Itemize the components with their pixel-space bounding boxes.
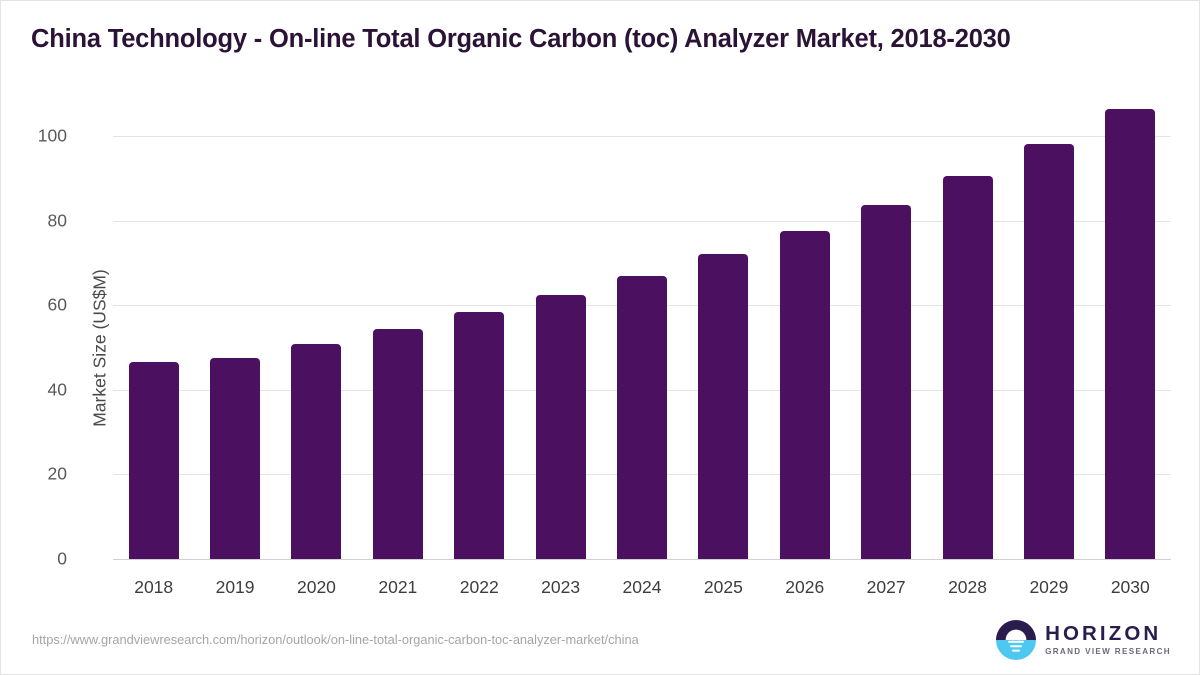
bar-2029[interactable] <box>1024 144 1074 559</box>
y-tick-label: 40 <box>7 379 67 400</box>
bar-2019[interactable] <box>210 358 260 559</box>
plot-area: Market Size (US$M) 020406080100 20182019… <box>113 136 1171 559</box>
bar-2018[interactable] <box>129 362 179 559</box>
x-tick-label: 2021 <box>357 577 438 598</box>
y-tick-label: 0 <box>7 549 67 570</box>
x-tick-label: 2030 <box>1090 577 1171 598</box>
bar-slot <box>520 136 601 559</box>
bar-2020[interactable] <box>291 344 341 559</box>
bar-slot <box>601 136 682 559</box>
y-tick-label: 20 <box>7 464 67 485</box>
bar-slot <box>764 136 845 559</box>
bar-slot <box>357 136 438 559</box>
horizon-logo: HORIZON GRAND VIEW RESEARCH <box>996 618 1171 662</box>
logo-subtitle: GRAND VIEW RESEARCH <box>1045 648 1171 656</box>
bar-2021[interactable] <box>373 329 423 559</box>
bar-slot <box>1090 136 1171 559</box>
x-tick-label: 2023 <box>520 577 601 598</box>
bar-2026[interactable] <box>780 231 830 559</box>
bar-series <box>113 136 1171 559</box>
y-tick-label: 80 <box>7 210 67 231</box>
bar-2024[interactable] <box>617 276 667 559</box>
bar-slot <box>683 136 764 559</box>
x-tick-label: 2018 <box>113 577 194 598</box>
x-tick-label: 2020 <box>276 577 357 598</box>
chart-canvas: Market Size (US$M) 020406080100 20182019… <box>1 1 1200 675</box>
logo-wordmark: HORIZON <box>1045 624 1171 645</box>
horizon-mark-icon <box>996 620 1036 660</box>
x-tick-label: 2024 <box>601 577 682 598</box>
bar-2027[interactable] <box>861 205 911 559</box>
y-tick-label: 100 <box>7 126 67 147</box>
x-tick-label: 2027 <box>845 577 926 598</box>
logo-text: HORIZON GRAND VIEW RESEARCH <box>1045 624 1171 657</box>
bar-2025[interactable] <box>698 254 748 559</box>
x-tick-label: 2029 <box>1008 577 1089 598</box>
bar-2030[interactable] <box>1105 109 1155 559</box>
x-tick-label: 2019 <box>194 577 275 598</box>
bar-slot <box>194 136 275 559</box>
bar-slot <box>439 136 520 559</box>
y-tick-label: 60 <box>7 295 67 316</box>
x-tick-label: 2026 <box>764 577 845 598</box>
bar-slot <box>927 136 1008 559</box>
x-tick-label: 2028 <box>927 577 1008 598</box>
source-url[interactable]: https://www.grandviewresearch.com/horizo… <box>32 632 639 647</box>
bar-slot <box>276 136 357 559</box>
bar-slot <box>1008 136 1089 559</box>
gridline-0 <box>113 559 1171 560</box>
bar-2028[interactable] <box>943 176 993 559</box>
bar-slot <box>845 136 926 559</box>
x-tick-label: 2022 <box>439 577 520 598</box>
bar-slot <box>113 136 194 559</box>
bar-2023[interactable] <box>536 295 586 559</box>
x-tick-label: 2025 <box>683 577 764 598</box>
y-axis-label: Market Size (US$M) <box>89 269 110 427</box>
chart-page: China Technology - On-line Total Organic… <box>0 0 1200 675</box>
bar-2022[interactable] <box>454 312 504 559</box>
